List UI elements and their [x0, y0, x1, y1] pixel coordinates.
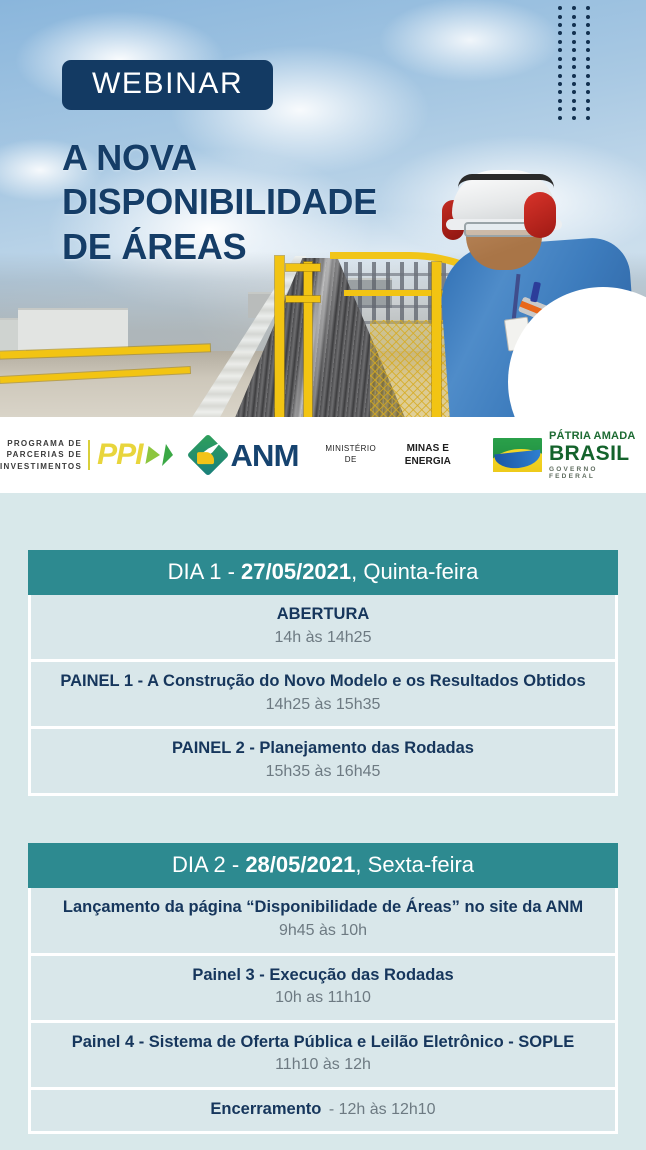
schedule-row-title: Lançamento da página “Disponibilidade de… — [43, 897, 603, 918]
schedule-row: Encerramento - 12h às 12h10 — [28, 1090, 618, 1135]
ministry-line-2: MINAS E ENERGIA — [383, 442, 473, 469]
schedule-section: DIA 1 - 27/05/2021, Quinta-feira ABERTUR… — [0, 550, 646, 1148]
helmet-band — [458, 174, 554, 188]
anm-logo: ANM — [193, 440, 298, 471]
ministry-line-1: MINISTÉRIO DE — [319, 444, 383, 466]
day-header-2-suffix: , Sexta-feira — [355, 852, 474, 877]
schedule-row: ABERTURA 14h às 14h25 — [28, 595, 618, 662]
ministry-logo: MINISTÉRIO DE MINAS E ENERGIA — [319, 442, 473, 469]
schedule-row-time: 14h às 14h25 — [43, 627, 603, 649]
schedule-row-time: - 12h às 12h10 — [329, 1101, 436, 1118]
day-header-2-prefix: DIA 2 - — [172, 852, 245, 877]
governo-federal-text: PÁTRIA AMADA BRASIL GOVERNO FEDERAL — [549, 430, 646, 480]
ppi-logo-mark: PPI — [88, 440, 173, 470]
dot-grid-decoration — [553, 4, 595, 122]
ppi-logo: PROGRAMA DE PARCERIAS DE INVESTIMENTOS P… — [0, 438, 173, 473]
plant-building-icon — [18, 308, 128, 350]
ppi-acronym: PPI — [97, 440, 142, 470]
schedule-row: PAINEL 1 - A Construção do Novo Modelo e… — [28, 662, 618, 729]
day-header-1-date: 27/05/2021 — [241, 559, 351, 584]
yellow-railing — [304, 262, 312, 417]
schedule-row-time: 15h35 às 16h45 — [43, 761, 603, 783]
webinar-poster: WEBINAR A NOVA DISPONIBILIDADE DE ÁREAS … — [0, 0, 646, 1150]
schedule-row: Painel 3 - Execução das Rodadas 10h as 1… — [28, 956, 618, 1023]
ppi-word-2: PARCERIAS DE — [0, 449, 82, 461]
yellow-railing — [275, 256, 284, 417]
day-header-2-date: 28/05/2021 — [245, 852, 355, 877]
anm-diamond-icon — [187, 434, 229, 476]
schedule-row-time: 9h45 às 10h — [43, 920, 603, 942]
hero-banner: WEBINAR A NOVA DISPONIBILIDADE DE ÁREAS — [0, 0, 646, 417]
pab-line-2: BRASIL — [549, 442, 646, 466]
anm-acronym: ANM — [230, 440, 298, 471]
day-block-1: DIA 1 - 27/05/2021, Quinta-feira ABERTUR… — [28, 550, 618, 796]
brazil-flag-icon — [493, 438, 542, 472]
page-title-line-3: DE ÁREAS — [62, 225, 377, 269]
ppi-logo-words: PROGRAMA DE PARCERIAS DE INVESTIMENTOS — [0, 438, 82, 473]
schedule-row-time: 14h25 às 15h35 — [43, 694, 603, 716]
schedule-row-title: PAINEL 1 - A Construção do Novo Modelo e… — [43, 671, 603, 692]
ppi-word-1: PROGRAMA DE — [0, 438, 82, 450]
ppi-leaf-icon — [146, 446, 162, 464]
schedule-row-title: Painel 4 - Sistema de Oferta Pública e L… — [43, 1032, 603, 1053]
schedule-row: Lançamento da página “Disponibilidade de… — [28, 888, 618, 955]
page-title-line-2: DISPONIBILIDADE — [62, 180, 377, 224]
day-block-2: DIA 2 - 28/05/2021, Sexta-feira Lançamen… — [28, 843, 618, 1134]
schedule-row-title: Painel 3 - Execução das Rodadas — [43, 965, 603, 986]
day-header-2: DIA 2 - 28/05/2021, Sexta-feira — [28, 843, 618, 888]
day-header-1: DIA 1 - 27/05/2021, Quinta-feira — [28, 550, 618, 595]
day-header-1-prefix: DIA 1 - — [168, 559, 241, 584]
schedule-row-time: 11h10 às 12h — [43, 1054, 603, 1076]
ppi-leaf-icon — [163, 444, 176, 466]
yellow-railing — [286, 296, 320, 302]
schedule-row-title: Encerramento — [210, 1100, 321, 1118]
ppi-word-3: INVESTIMENTOS — [0, 461, 82, 473]
schedule-row-title: PAINEL 2 - Planejamento das Rodadas — [43, 738, 603, 759]
page-title-line-1: A NOVA — [62, 136, 377, 180]
governo-federal-logo: PÁTRIA AMADA BRASIL GOVERNO FEDERAL — [493, 430, 646, 480]
partner-logo-bar: PROGRAMA DE PARCERIAS DE INVESTIMENTOS P… — [0, 417, 646, 493]
schedule-row-title: ABERTURA — [43, 604, 603, 625]
page-title: A NOVA DISPONIBILIDADE DE ÁREAS — [62, 136, 377, 269]
pab-line-1: PÁTRIA AMADA — [549, 430, 646, 442]
pab-line-3: GOVERNO FEDERAL — [549, 466, 646, 481]
day-header-1-suffix: , Quinta-feira — [351, 559, 478, 584]
webinar-badge: WEBINAR — [62, 60, 273, 110]
schedule-row-time: 10h as 11h10 — [43, 987, 603, 1009]
schedule-row: Painel 4 - Sistema de Oferta Pública e L… — [28, 1023, 618, 1090]
ear-protector-icon — [524, 192, 556, 238]
schedule-row: PAINEL 2 - Planejamento das Rodadas 15h3… — [28, 729, 618, 796]
